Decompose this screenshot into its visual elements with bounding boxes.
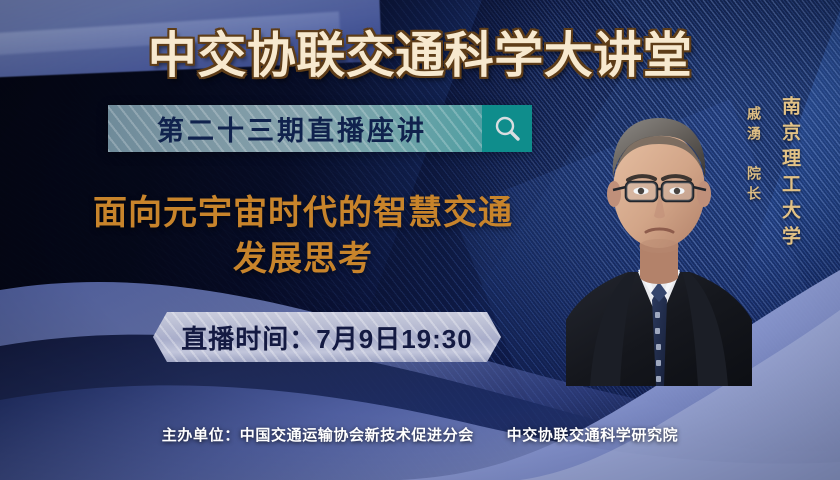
speaker-name: 戚湧	[744, 106, 764, 146]
episode-label: 第二十三期直播座讲	[157, 109, 433, 148]
broadcast-time-box: 直播时间：7月9日19:30	[153, 312, 501, 362]
lecture-title: 面向元宇宙时代的智慧交通 发展思考	[58, 190, 548, 282]
speaker-university: 南京理工大学	[776, 96, 803, 252]
broadcast-time-text: 直播时间：7月9日19:30	[181, 319, 472, 356]
search-button[interactable]	[482, 105, 532, 152]
episode-strip: 第二十三期直播座讲	[108, 105, 482, 152]
footer-organizer: 主办单位：中国交通运输协会新技术促进分会	[162, 427, 474, 444]
speaker-portrait	[566, 86, 752, 386]
page-title: 中交协联交通科学大讲堂	[0, 16, 840, 87]
search-icon	[492, 114, 522, 144]
lecture-title-line1: 面向元宇宙时代的智慧交通	[93, 193, 513, 233]
episode-banner[interactable]: 第二十三期直播座讲	[108, 105, 532, 152]
poster-canvas: 中交协联交通科学大讲堂 第二十三期直播座讲 面向元宇宙时代的智慧交通 发展思考 …	[0, 0, 840, 480]
lecture-title-line2: 发展思考	[58, 236, 548, 282]
footer-organizer-secondary: 中交协联交通科学研究院	[507, 427, 679, 444]
footer: 主办单位：中国交通运输协会新技术促进分会 中交协联交通科学研究院	[0, 424, 840, 445]
speaker-title: 院长	[744, 166, 764, 206]
